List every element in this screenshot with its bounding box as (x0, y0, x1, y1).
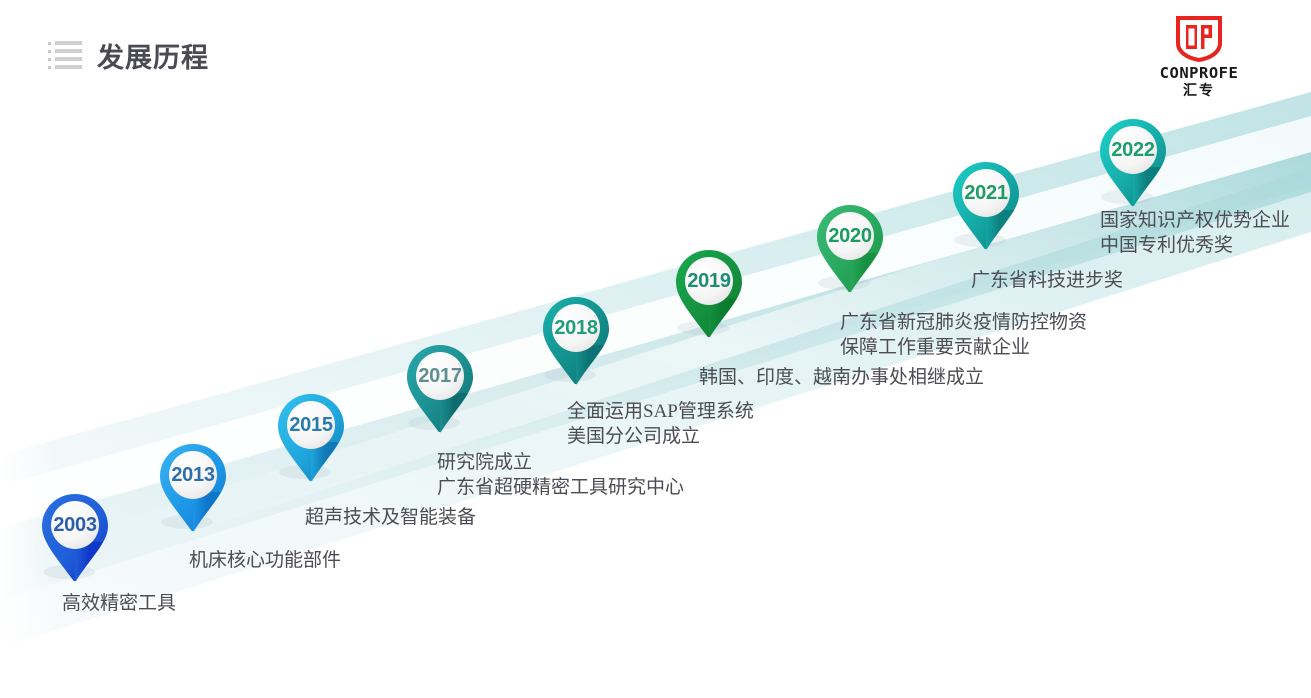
caption-line: 机床核心功能部件 (189, 548, 341, 573)
caption-line: 广东省新冠肺炎疫情防控物资 (840, 310, 1087, 335)
milestone-caption-2013: 机床核心功能部件 (189, 548, 341, 573)
caption-line: 高效精密工具 (62, 591, 176, 616)
milestone-caption-2003: 高效精密工具 (62, 591, 176, 616)
caption-line: 韩国、印度、越南办事处相继成立 (699, 365, 984, 390)
milestone-caption-2018: 全面运用SAP管理系统美国分公司成立 (567, 399, 754, 450)
caption-line: 中国专利优秀奖 (1100, 233, 1290, 258)
milestone-caption-2021: 广东省科技进步奖 (971, 268, 1123, 293)
logo-chinese-name: 汇专 (1144, 81, 1254, 99)
caption-line: 保障工作重要贡献企业 (840, 335, 1087, 360)
timeline-infographic: 发展历程 CONPROFE 汇专 2003高效精密工具2013机床核心功能部件2… (0, 0, 1311, 698)
milestone-year-2017: 2017 (404, 365, 476, 388)
milestone-pin-2018[interactable]: 2018 (540, 295, 612, 387)
caption-line: 超声技术及智能装备 (305, 505, 476, 530)
milestone-year-2019: 2019 (673, 270, 745, 293)
milestone-year-2021: 2021 (950, 182, 1022, 205)
caption-line: 广东省超硬精密工具研究中心 (437, 475, 684, 500)
milestone-caption-2015: 超声技术及智能装备 (305, 505, 476, 530)
milestone-caption-2020: 广东省新冠肺炎疫情防控物资保障工作重要贡献企业 (840, 310, 1087, 361)
milestone-pin-2017[interactable]: 2017 (404, 343, 476, 435)
milestone-pin-2022[interactable]: 2022 (1097, 117, 1169, 209)
caption-line: 美国分公司成立 (567, 424, 754, 449)
milestone-year-2020: 2020 (814, 225, 886, 248)
milestone-pin-2003[interactable]: 2003 (39, 492, 111, 584)
page-header: 发展历程 CONPROFE 汇专 (0, 0, 1311, 105)
milestone-pin-2021[interactable]: 2021 (950, 160, 1022, 252)
milestone-pin-2015[interactable]: 2015 (275, 392, 347, 484)
milestone-year-2018: 2018 (540, 317, 612, 340)
milestone-caption-2019: 韩国、印度、越南办事处相继成立 (699, 365, 984, 390)
milestone-caption-2022: 国家知识产权优势企业中国专利优秀奖 (1100, 208, 1290, 259)
milestone-year-2003: 2003 (39, 514, 111, 537)
conprofe-shield-icon (1174, 16, 1224, 62)
page-title: 发展历程 (97, 36, 209, 75)
logo-wordmark: CONPROFE (1144, 65, 1254, 81)
caption-line: 国家知识产权优势企业 (1100, 208, 1290, 233)
list-icon (48, 39, 88, 71)
milestone-pin-2020[interactable]: 2020 (814, 203, 886, 295)
milestone-pin-2019[interactable]: 2019 (673, 248, 745, 340)
company-logo: CONPROFE 汇专 (1144, 16, 1254, 99)
milestone-caption-2017: 研究院成立广东省超硬精密工具研究中心 (437, 450, 684, 501)
milestone-year-2022: 2022 (1097, 139, 1169, 162)
milestone-year-2015: 2015 (275, 414, 347, 437)
caption-line: 研究院成立 (437, 450, 684, 475)
milestone-year-2013: 2013 (157, 464, 229, 487)
caption-line: 全面运用SAP管理系统 (567, 399, 754, 424)
caption-line: 广东省科技进步奖 (971, 268, 1123, 293)
milestone-pin-2013[interactable]: 2013 (157, 442, 229, 534)
